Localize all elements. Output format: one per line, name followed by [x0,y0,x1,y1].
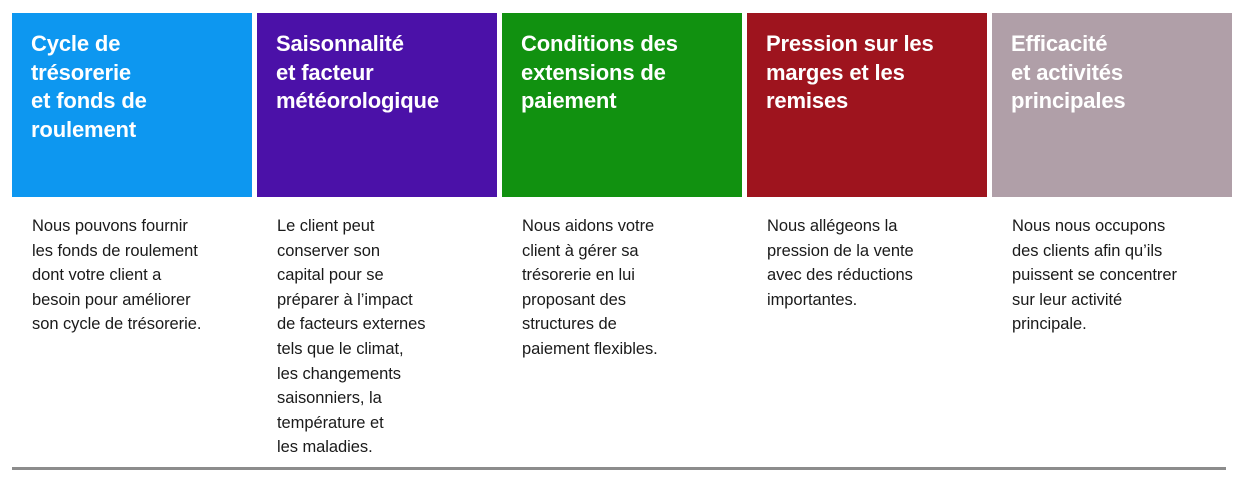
card-body-line: paiement flexibles. [522,337,724,362]
card-body-line: importantes. [767,288,969,313]
card-title-line: et facteur [276,59,481,88]
card-title-line: principales [1011,87,1216,116]
card-header-efficacite-et-activites-principales: Efficacitéet activitésprincipales [992,13,1232,197]
card-body-line: structures de [522,312,724,337]
card-body-line: Nous nous occupons [1012,214,1214,239]
card-title-line: Conditions des [521,30,726,59]
card-header-conditions-des-extensions-de-paiement: Conditions desextensions depaiement [502,13,742,197]
card-body-line: client à gérer sa [522,239,724,264]
card-body-line: capital pour se [277,263,479,288]
card-body-line: des clients afin qu’ils [1012,239,1214,264]
card-column-saisonnalite-et-facteur-meteorologique: Saisonnalitéet facteurmétéorologiqueLe c… [257,13,497,460]
card-title-line: trésorerie [31,59,236,88]
card-body-line: Nous allégeons la [767,214,969,239]
card-title-line: météorologique [276,87,481,116]
card-title-line: Cycle de [31,30,236,59]
card-body-saisonnalite-et-facteur-meteorologique: Le client peutconserver soncapital pour … [257,197,497,460]
card-title-line: Efficacité [1011,30,1216,59]
card-body-line: principale. [1012,312,1214,337]
card-body-line: proposant des [522,288,724,313]
card-header-pression-sur-les-marges-et-les-remises: Pression sur lesmarges et lesremises [747,13,987,197]
card-body-line: puissent se concentrer [1012,263,1214,288]
card-title-line: marges et les [766,59,971,88]
card-body-line: pression de la vente [767,239,969,264]
card-body-line: tels que le climat, [277,337,479,362]
card-column-conditions-des-extensions-de-paiement: Conditions desextensions depaiementNous … [502,13,742,362]
card-body-line: sur leur activité [1012,288,1214,313]
card-body-line: besoin pour améliorer [32,288,234,313]
card-title-line: Pression sur les [766,30,971,59]
card-title-line: roulement [31,116,236,145]
card-body-line: les changements [277,362,479,387]
card-title-line: Saisonnalité [276,30,481,59]
card-body-line: les fonds de roulement [32,239,234,264]
card-body-line: avec des réductions [767,263,969,288]
card-body-line: température et [277,411,479,436]
card-title-line: extensions de [521,59,726,88]
card-columns: Cycle detrésorerieet fonds deroulementNo… [12,13,1226,460]
card-body-line: dont votre client a [32,263,234,288]
card-title-line: et activités [1011,59,1216,88]
card-header-saisonnalite-et-facteur-meteorologique: Saisonnalitéet facteurmétéorologique [257,13,497,197]
card-body-conditions-des-extensions-de-paiement: Nous aidons votreclient à gérer satrésor… [502,197,742,362]
card-body-line: trésorerie en lui [522,263,724,288]
card-title-line: remises [766,87,971,116]
card-body-line: de facteurs externes [277,312,479,337]
card-body-line: Le client peut [277,214,479,239]
info-cards-board: Cycle detrésorerieet fonds deroulementNo… [0,0,1240,484]
card-body-line: son cycle de trésorerie. [32,312,234,337]
card-body-line: saisonniers, la [277,386,479,411]
card-body-line: préparer à l’impact [277,288,479,313]
card-header-cycle-de-tresorerie: Cycle detrésorerieet fonds deroulement [12,13,252,197]
card-title-line: et fonds de [31,87,236,116]
footer-divider [12,467,1226,470]
card-column-pression-sur-les-marges-et-les-remises: Pression sur lesmarges et lesremisesNous… [747,13,987,312]
card-body-cycle-de-tresorerie: Nous pouvons fournirles fonds de rouleme… [12,197,252,337]
card-title-line: paiement [521,87,726,116]
card-column-efficacite-et-activites-principales: Efficacitéet activitésprincipalesNous no… [992,13,1232,337]
card-body-line: Nous aidons votre [522,214,724,239]
card-body-line: Nous pouvons fournir [32,214,234,239]
card-column-cycle-de-tresorerie: Cycle detrésorerieet fonds deroulementNo… [12,13,252,337]
card-body-pression-sur-les-marges-et-les-remises: Nous allégeons lapression de la venteave… [747,197,987,312]
card-body-efficacite-et-activites-principales: Nous nous occuponsdes clients afin qu’il… [992,197,1232,337]
card-body-line: conserver son [277,239,479,264]
card-body-line: les maladies. [277,435,479,460]
